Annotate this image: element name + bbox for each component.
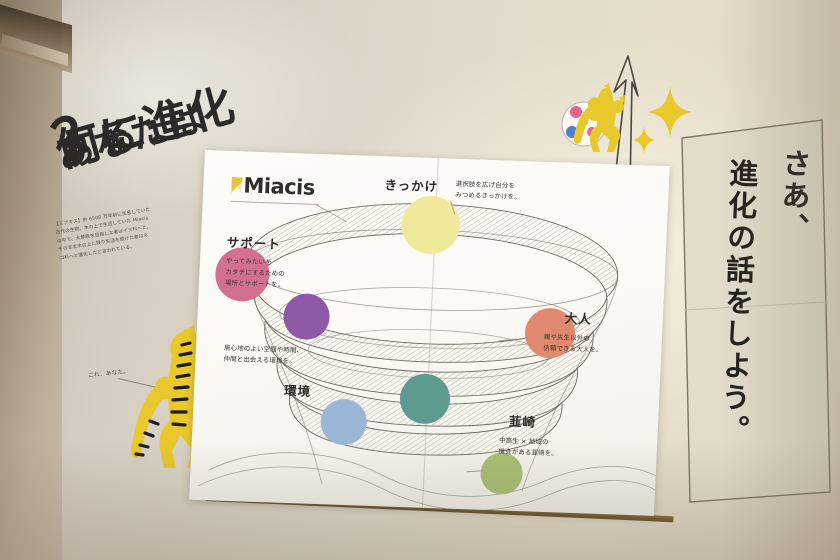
- desc-line: 場所とサポートを。: [225, 278, 285, 291]
- desc-line: 信頼できる大人を。: [543, 343, 603, 356]
- label-otona-desc: 親や先生以外の 信頼できる大人を。: [543, 332, 603, 356]
- label-kankyo-title: 環境: [284, 385, 312, 398]
- desc-line: みつめるきっかけを。: [455, 190, 521, 203]
- screenshot-stage: あなたは 何に進化 する ？ 【ミアキス】約 6500 万年前に生息していた 古…: [0, 0, 840, 560]
- label-otona-title: 大人: [564, 313, 592, 326]
- label-nirasaki-title: 韮崎: [509, 416, 537, 429]
- label-kankyo-desc: 居心地のよい空間や時間、 仲間と出会える環境を。: [223, 343, 303, 368]
- label-support-title: サポート: [227, 237, 282, 251]
- label-kikkake-title: きっかけ: [384, 179, 438, 193]
- sparkle-small-icon: [633, 126, 655, 154]
- wall-shadow-bottom: [0, 440, 840, 560]
- label-support-desc: やってみたいを カタチにするための 場所とサポートを。: [225, 256, 286, 292]
- label-kikkake-desc: 選択肢を広げ自分を みつめるきっかけを。: [455, 179, 522, 204]
